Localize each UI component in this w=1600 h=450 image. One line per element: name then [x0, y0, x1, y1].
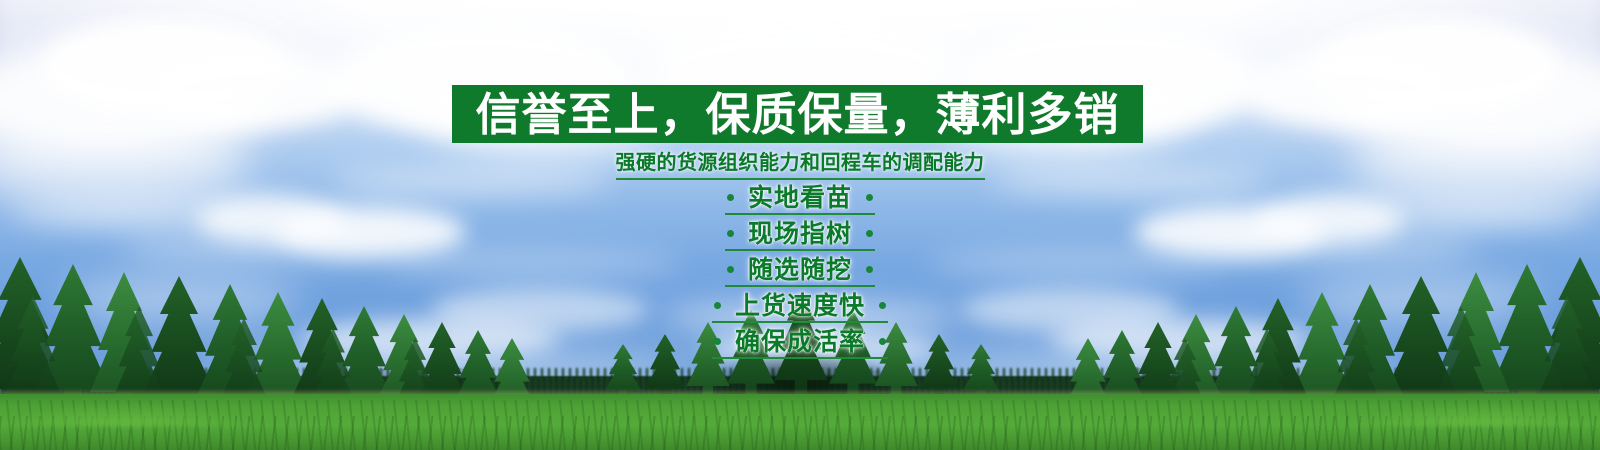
feature-item: 实地看苗 [0, 182, 1600, 218]
feature-label: 实地看苗 [748, 185, 852, 210]
bullet-dot-icon [879, 338, 886, 345]
bullet-dot-icon [866, 230, 873, 237]
feature-label: 上货速度快 [735, 293, 865, 318]
subtitle-text: 强硬的货源组织能力和回程车的调配能力 [616, 146, 985, 180]
feature-item: 上货速度快 [0, 290, 1600, 326]
feature-list: 实地看苗 现场指树 随选随挖 [0, 182, 1600, 362]
bullet-dot-icon [866, 266, 873, 273]
feature-item: 确保成活率 [0, 326, 1600, 362]
banner-content: 信誉至上，保质保量，薄利多销 强硬的货源组织能力和回程车的调配能力 实地看苗 现… [0, 0, 1600, 450]
headline-text: 信誉至上，保质保量，薄利多销 [475, 92, 1119, 137]
bullet-dot-icon [879, 302, 886, 309]
bullet-dot-icon [727, 194, 734, 201]
feature-item: 现场指树 [0, 218, 1600, 254]
bullet-dot-icon [727, 230, 734, 237]
hero-banner: 信誉至上，保质保量，薄利多销 强硬的货源组织能力和回程车的调配能力 实地看苗 现… [0, 0, 1600, 450]
feature-label: 随选随挖 [748, 257, 852, 282]
feature-label: 现场指树 [748, 221, 852, 246]
bullet-dot-icon [714, 302, 721, 309]
bullet-dot-icon [727, 266, 734, 273]
bullet-dot-icon [866, 194, 873, 201]
feature-label: 确保成活率 [735, 329, 865, 354]
headline-bar: 信誉至上，保质保量，薄利多销 [452, 85, 1143, 143]
bullet-dot-icon [714, 338, 721, 345]
subtitle: 强硬的货源组织能力和回程车的调配能力 [0, 146, 1600, 180]
feature-item: 随选随挖 [0, 254, 1600, 290]
